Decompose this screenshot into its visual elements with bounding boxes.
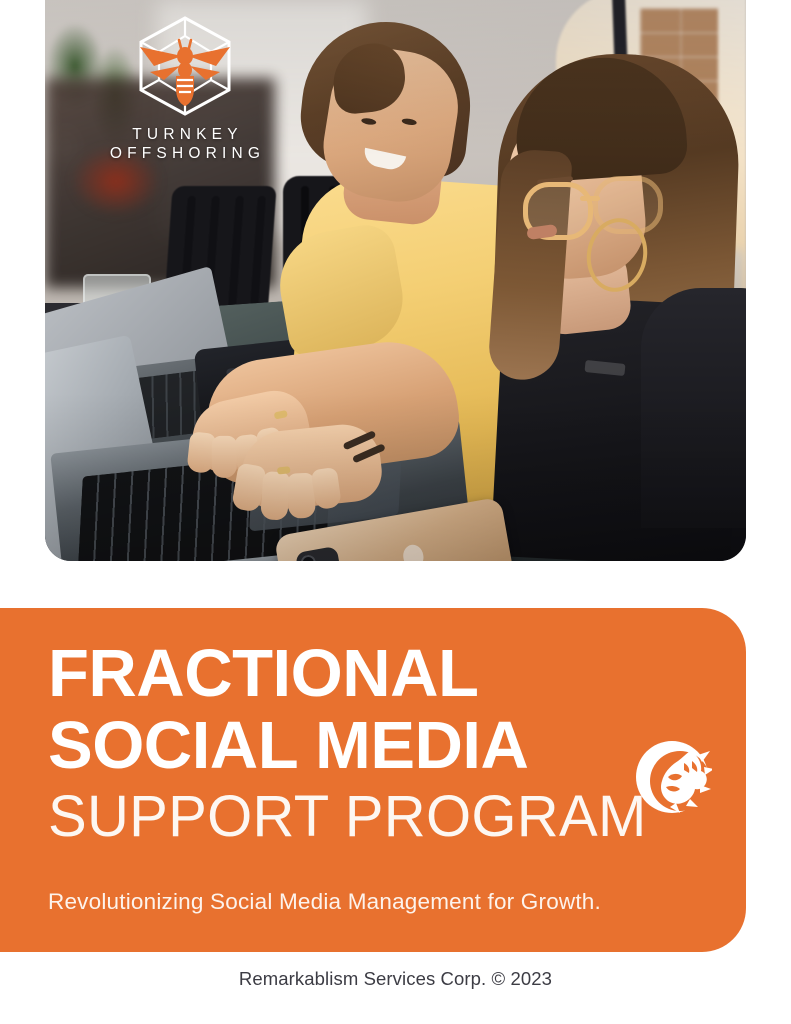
cover-photo: TURNKEY OFFSHORING (45, 0, 746, 561)
tagline: Revolutionizing Social Media Management … (48, 889, 601, 915)
title-line-3: SUPPORT PROGRAM (48, 784, 626, 850)
subject-two-shoulder (641, 288, 746, 528)
brand-wordmark: TURNKEY OFFSHORING (100, 125, 270, 163)
brand-wordmark-line-1: TURNKEY (100, 125, 270, 144)
title-line-1: FRACTIONAL (48, 638, 626, 710)
title-stack: FRACTIONAL SOCIAL MEDIA SUPPORT PROGRAM (48, 638, 626, 850)
lion-head-icon (632, 737, 712, 817)
footer-copyright: Remarkablism Services Corp. © 2023 (0, 968, 791, 990)
brand-wordmark-line-2: OFFSHORING (100, 144, 270, 163)
brand-logo: TURNKEY OFFSHORING (100, 14, 270, 163)
subject-two-glasses-bridge (580, 196, 600, 201)
title-line-2: SOCIAL MEDIA (48, 710, 626, 782)
hexagon-bee-icon (124, 14, 246, 118)
